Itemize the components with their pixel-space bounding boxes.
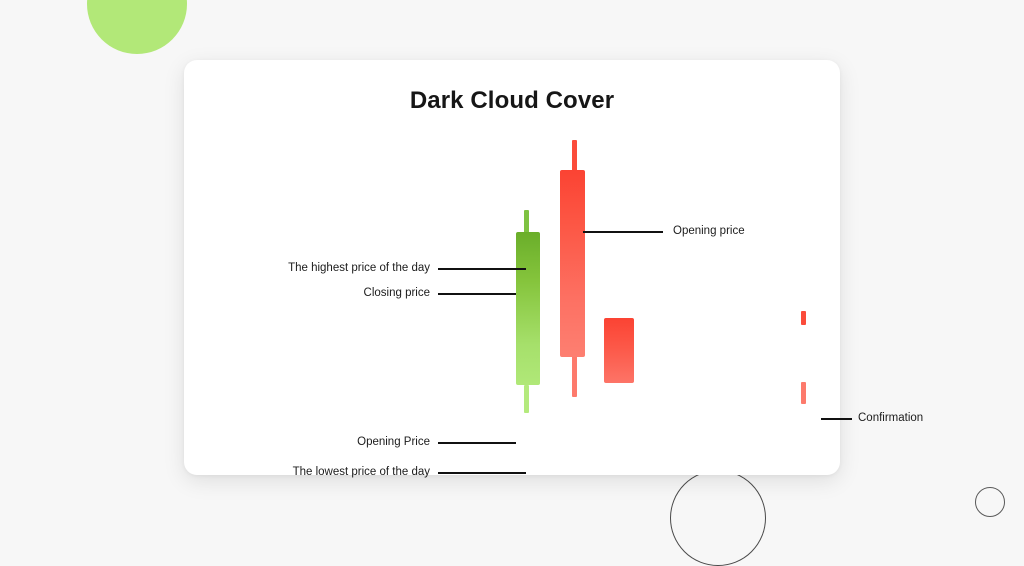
leader-line-highest-price <box>438 268 526 270</box>
bearish-candle-lower-wick <box>572 354 577 397</box>
candlestick-chart: The highest price of the day Closing pri… <box>184 60 840 475</box>
bearish-candle-body <box>560 170 585 357</box>
label-opening-price-right: Opening price <box>673 226 745 238</box>
label-opening-price-left: Opening Price <box>184 437 430 449</box>
confirmation-candle-upper-wick <box>801 311 806 325</box>
chart-card: Dark Cloud Cover The highest price of th… <box>184 60 840 475</box>
leader-line-opening-price-left <box>438 442 516 444</box>
green-filled-circle <box>87 0 187 54</box>
leader-line-lowest-price <box>438 472 526 474</box>
confirmation-candle-body <box>604 318 634 383</box>
leader-line-confirmation <box>821 418 852 420</box>
bullish-candle-lower-wick <box>524 385 529 413</box>
label-closing-price: Closing price <box>184 288 430 300</box>
leader-line-closing-price <box>438 293 516 295</box>
bullish-candle-body <box>516 232 540 385</box>
confirmation-candle-lower-wick <box>801 382 806 404</box>
label-confirmation: Confirmation <box>858 413 923 425</box>
leader-line-opening-price-right <box>583 231 663 233</box>
bearish-candle-upper-wick <box>572 140 577 172</box>
label-highest-price: The highest price of the day <box>184 263 430 275</box>
label-lowest-price: The lowest price of the day <box>184 467 430 479</box>
small-outline-circle <box>975 487 1005 517</box>
large-outline-circle <box>670 470 766 566</box>
